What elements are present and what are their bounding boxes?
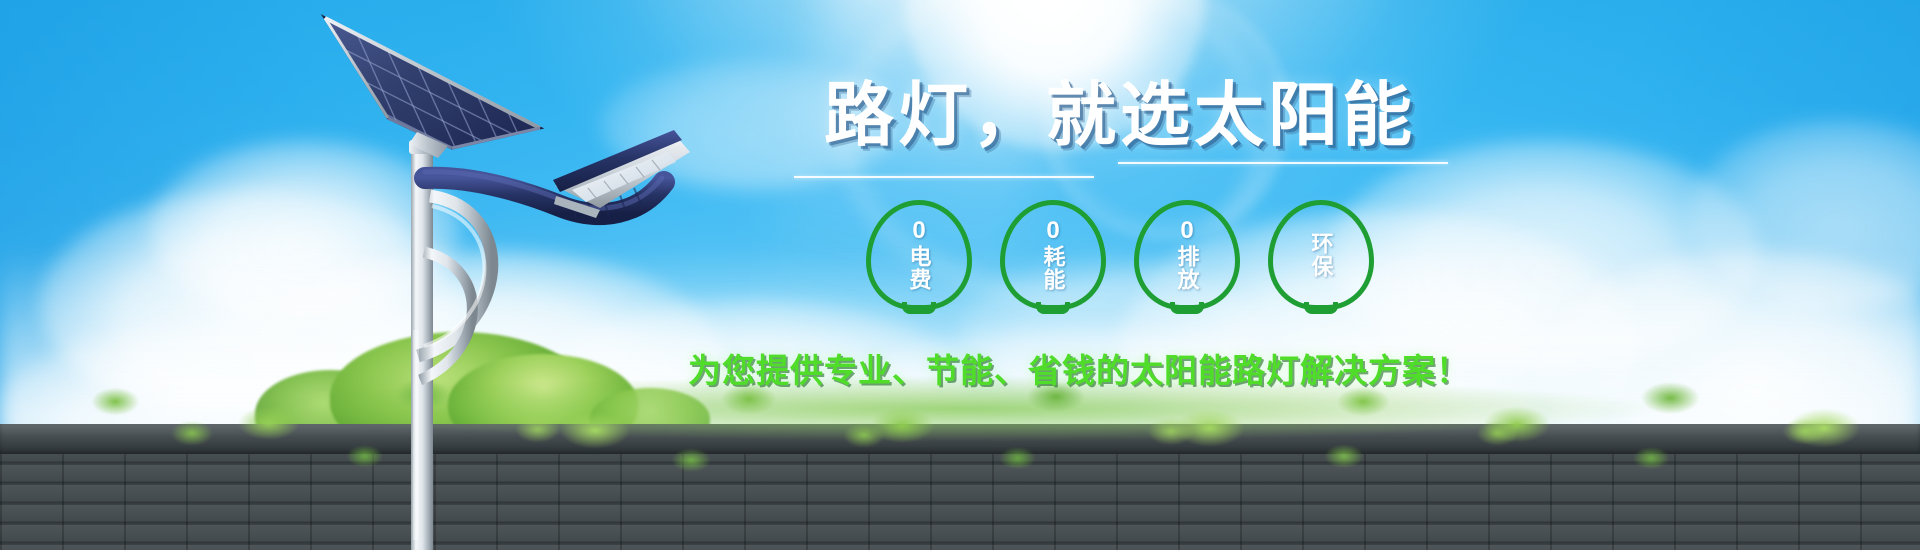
badge-label: 耗能 [1041,245,1064,291]
badge-label: 环保 [1309,232,1332,278]
badge-number: 0 [912,219,925,243]
feature-badge-emission: 0 排放 [1134,200,1240,310]
solar-street-lamp-banner: 路灯，就选太阳能 0 电费 0 耗能 0 排放 [0,0,1920,550]
underline-left [794,176,1094,178]
banner-copy: 路灯，就选太阳能 0 电费 0 耗能 0 排放 [770,80,1470,410]
badge-number: 0 [1180,219,1193,243]
feature-badge-eco: 环保 [1268,200,1374,310]
feature-badge-electricity: 0 电费 [866,200,972,310]
underline-right [1118,162,1448,164]
badge-label: 排放 [1175,245,1198,291]
feature-badge-list: 0 电费 0 耗能 0 排放 环保 [770,200,1470,310]
feature-badge-energy: 0 耗能 [1000,200,1106,310]
banner-headline: 路灯，就选太阳能 [770,80,1470,150]
headline-underlines [770,162,1470,184]
banner-subtitle: 为您提供专业、节能、省钱的太阳能路灯解决方案！ [688,344,1388,392]
badge-label: 电费 [907,245,930,291]
badge-number: 0 [1046,219,1059,243]
